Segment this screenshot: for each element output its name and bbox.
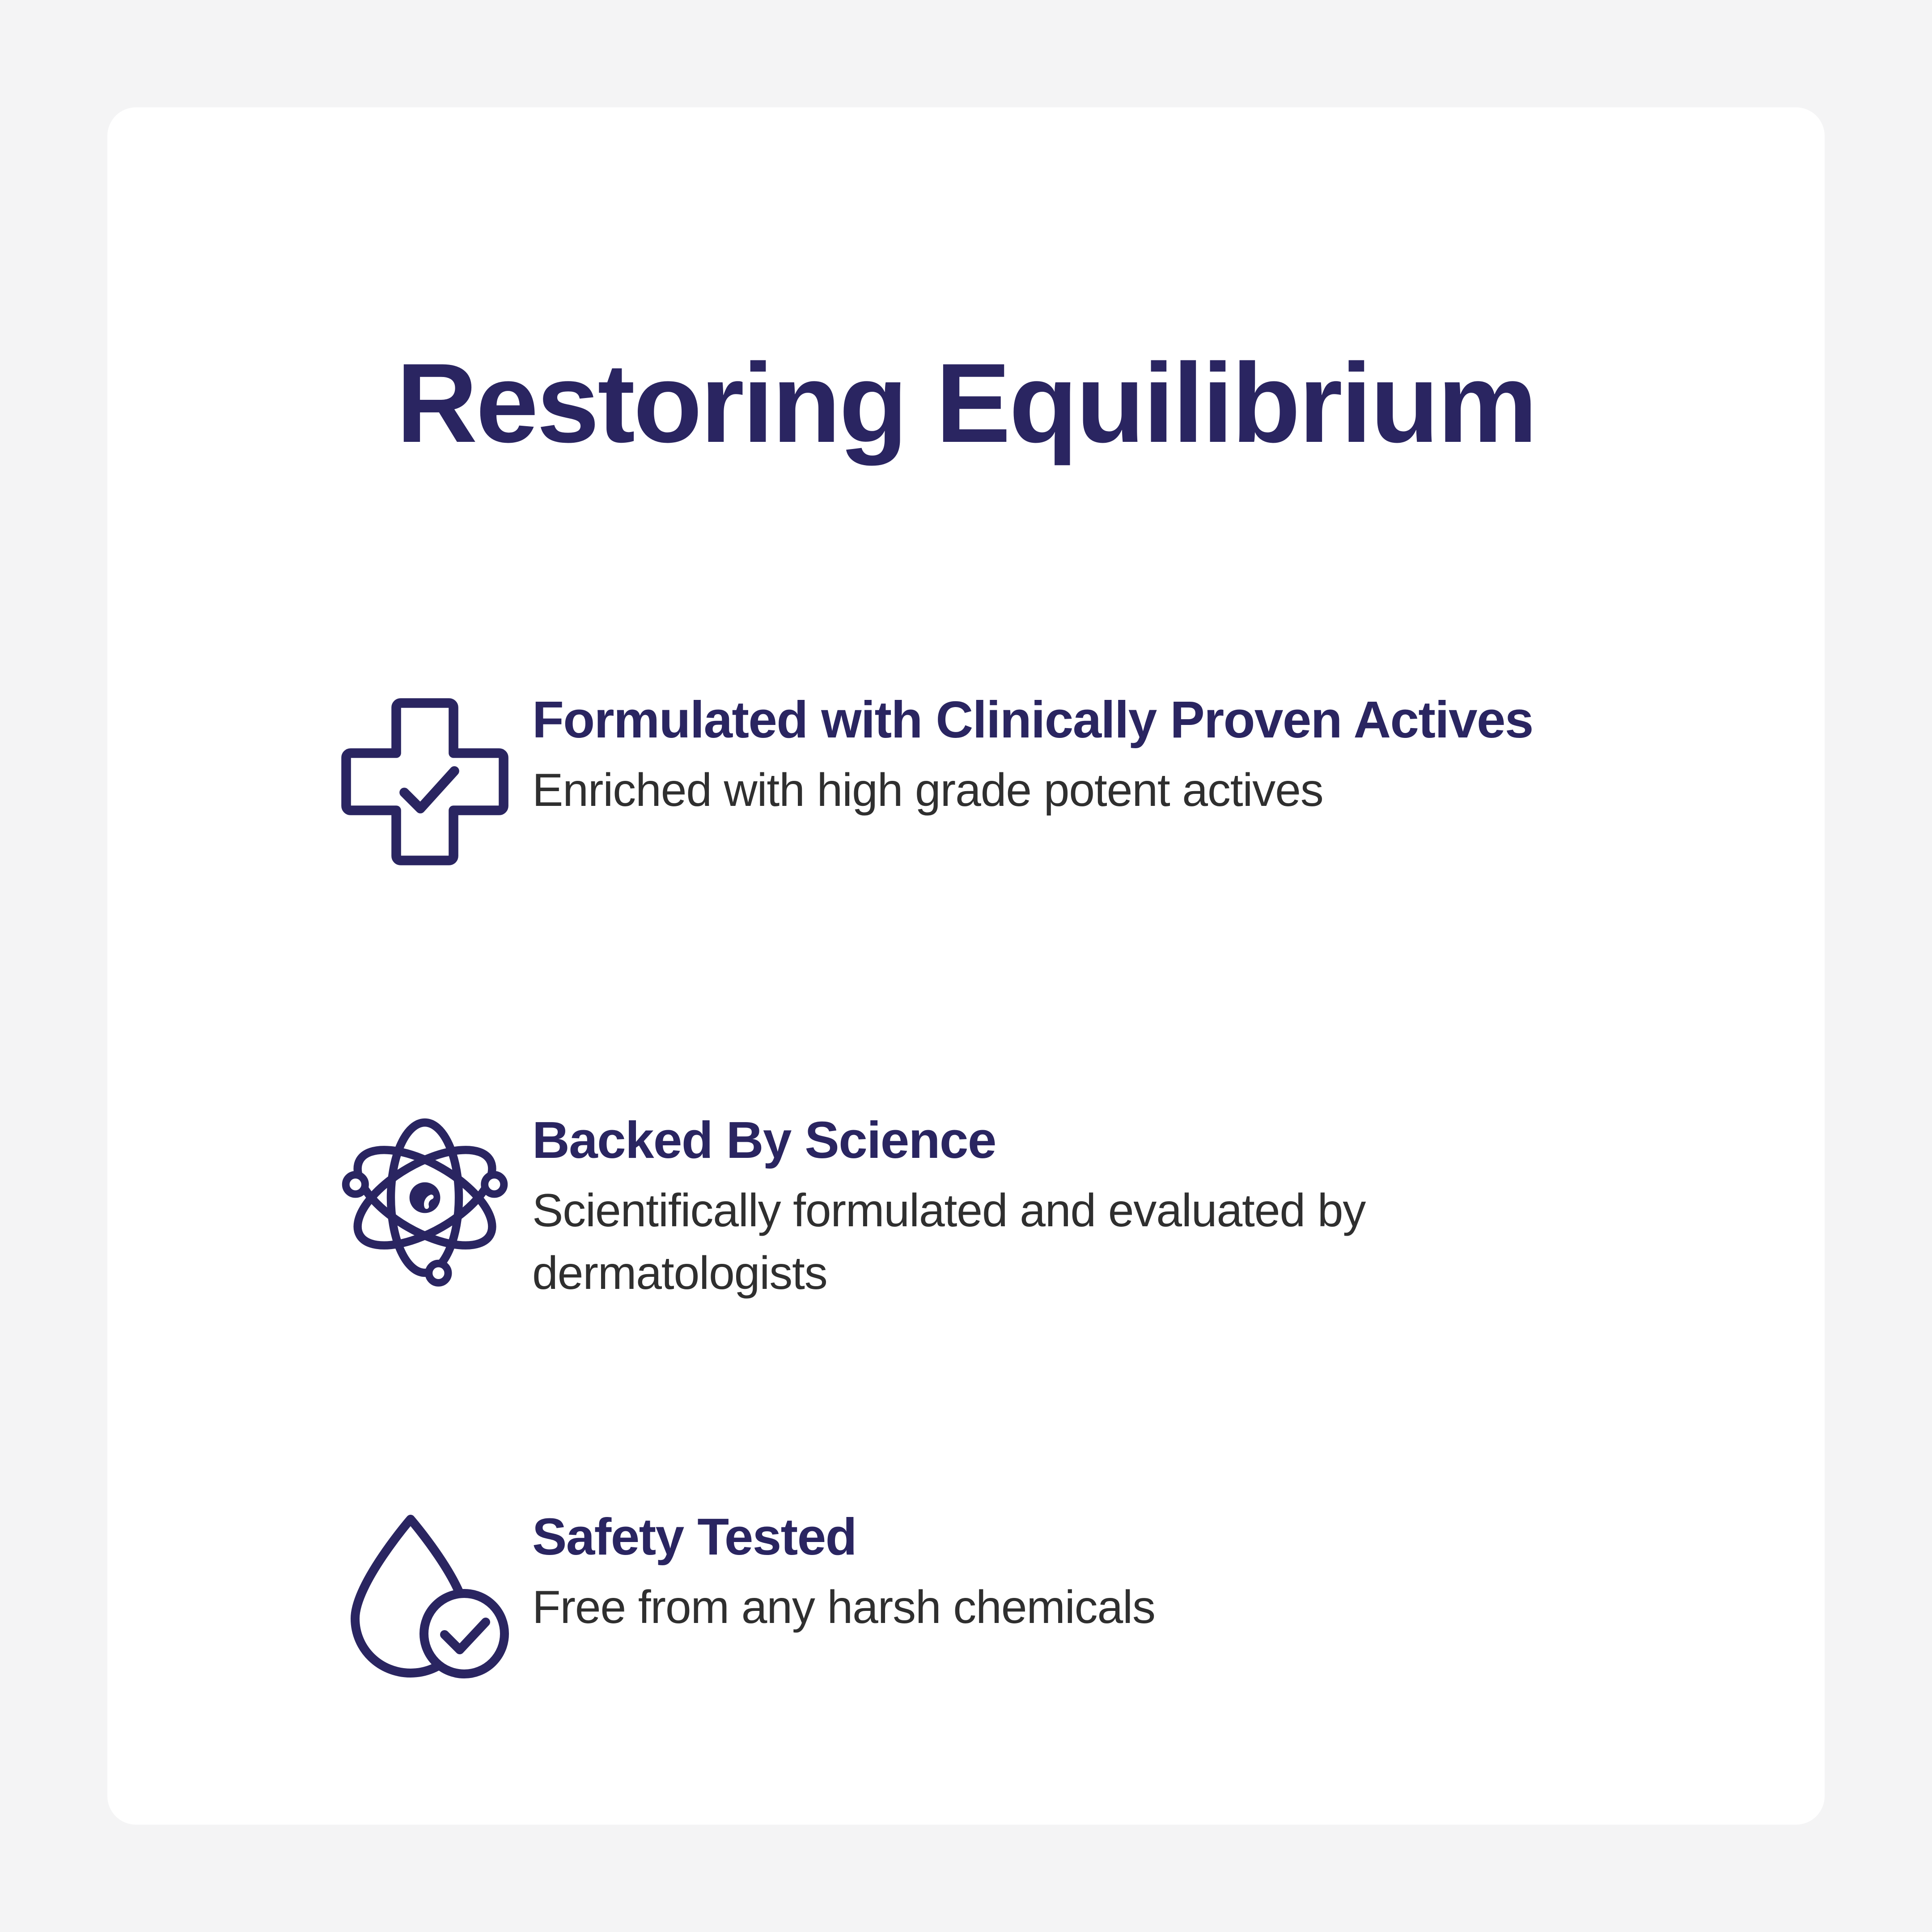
feature-item-clinically-proven: Formulated with Clinically Proven Active… [335, 684, 1722, 877]
feature-text-block: Formulated with Clinically Proven Active… [532, 684, 1547, 822]
feature-text-block: Backed By Science Scientifically formula… [532, 1105, 1547, 1305]
feature-description: Enriched with high grade potent actives [532, 759, 1547, 822]
feature-description: Scientifically formulated and evaluated … [532, 1180, 1547, 1305]
feature-item-safety-tested: Safety Tested Free from any harsh chemic… [335, 1501, 1722, 1694]
feature-heading: Backed By Science [532, 1107, 1547, 1173]
page-title: Restoring Equilibrium [107, 344, 1825, 463]
medical-cross-check-icon [335, 684, 532, 877]
feature-text-block: Safety Tested Free from any harsh chemic… [532, 1501, 1547, 1639]
atom-icon [335, 1105, 532, 1297]
feature-item-backed-by-science: Backed By Science Scientifically formula… [335, 1105, 1722, 1305]
feature-heading: Formulated with Clinically Proven Active… [532, 687, 1547, 752]
feature-list: Formulated with Clinically Proven Active… [335, 684, 1722, 1694]
feature-card: Restoring Equilibrium Formulated with Cl… [107, 107, 1825, 1825]
water-drop-check-icon [335, 1501, 532, 1694]
feature-description: Free from any harsh chemicals [532, 1576, 1547, 1639]
feature-heading: Safety Tested [532, 1504, 1547, 1569]
